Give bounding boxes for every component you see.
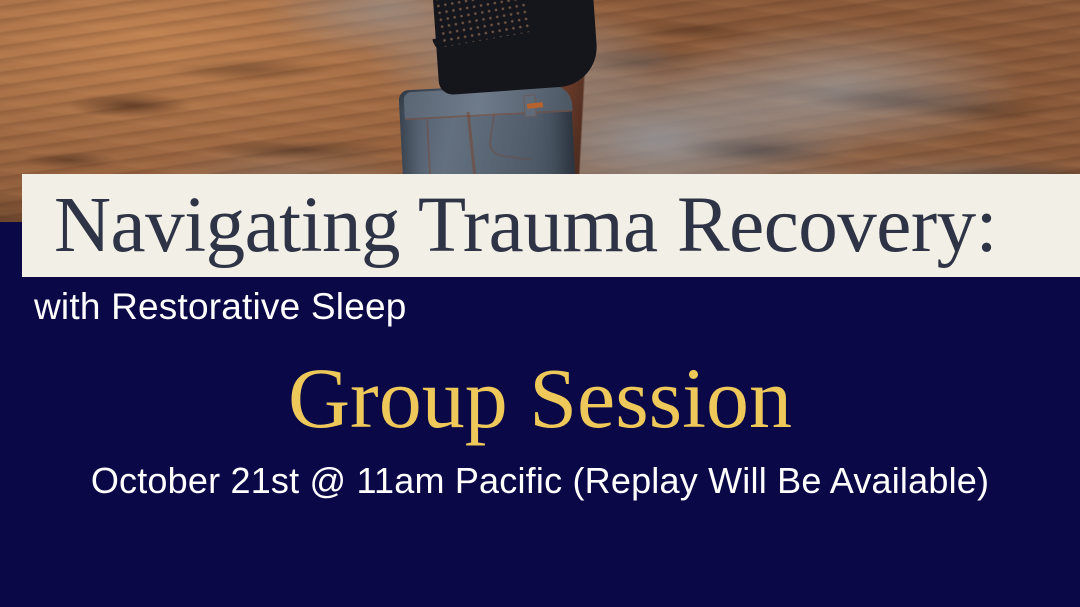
page-title: Navigating Trauma Recovery: — [54, 186, 997, 265]
subtitle: with Restorative Sleep — [34, 288, 407, 325]
event-dateline: October 21st @ 11am Pacific (Replay Will… — [0, 463, 1080, 499]
title-band: Navigating Trauma Recovery: — [22, 174, 1080, 277]
shorts-coin-pocket — [487, 113, 536, 161]
headline: Group Session — [0, 355, 1080, 441]
event-flyer: Navigating Trauma Recovery: with Restora… — [0, 0, 1080, 607]
